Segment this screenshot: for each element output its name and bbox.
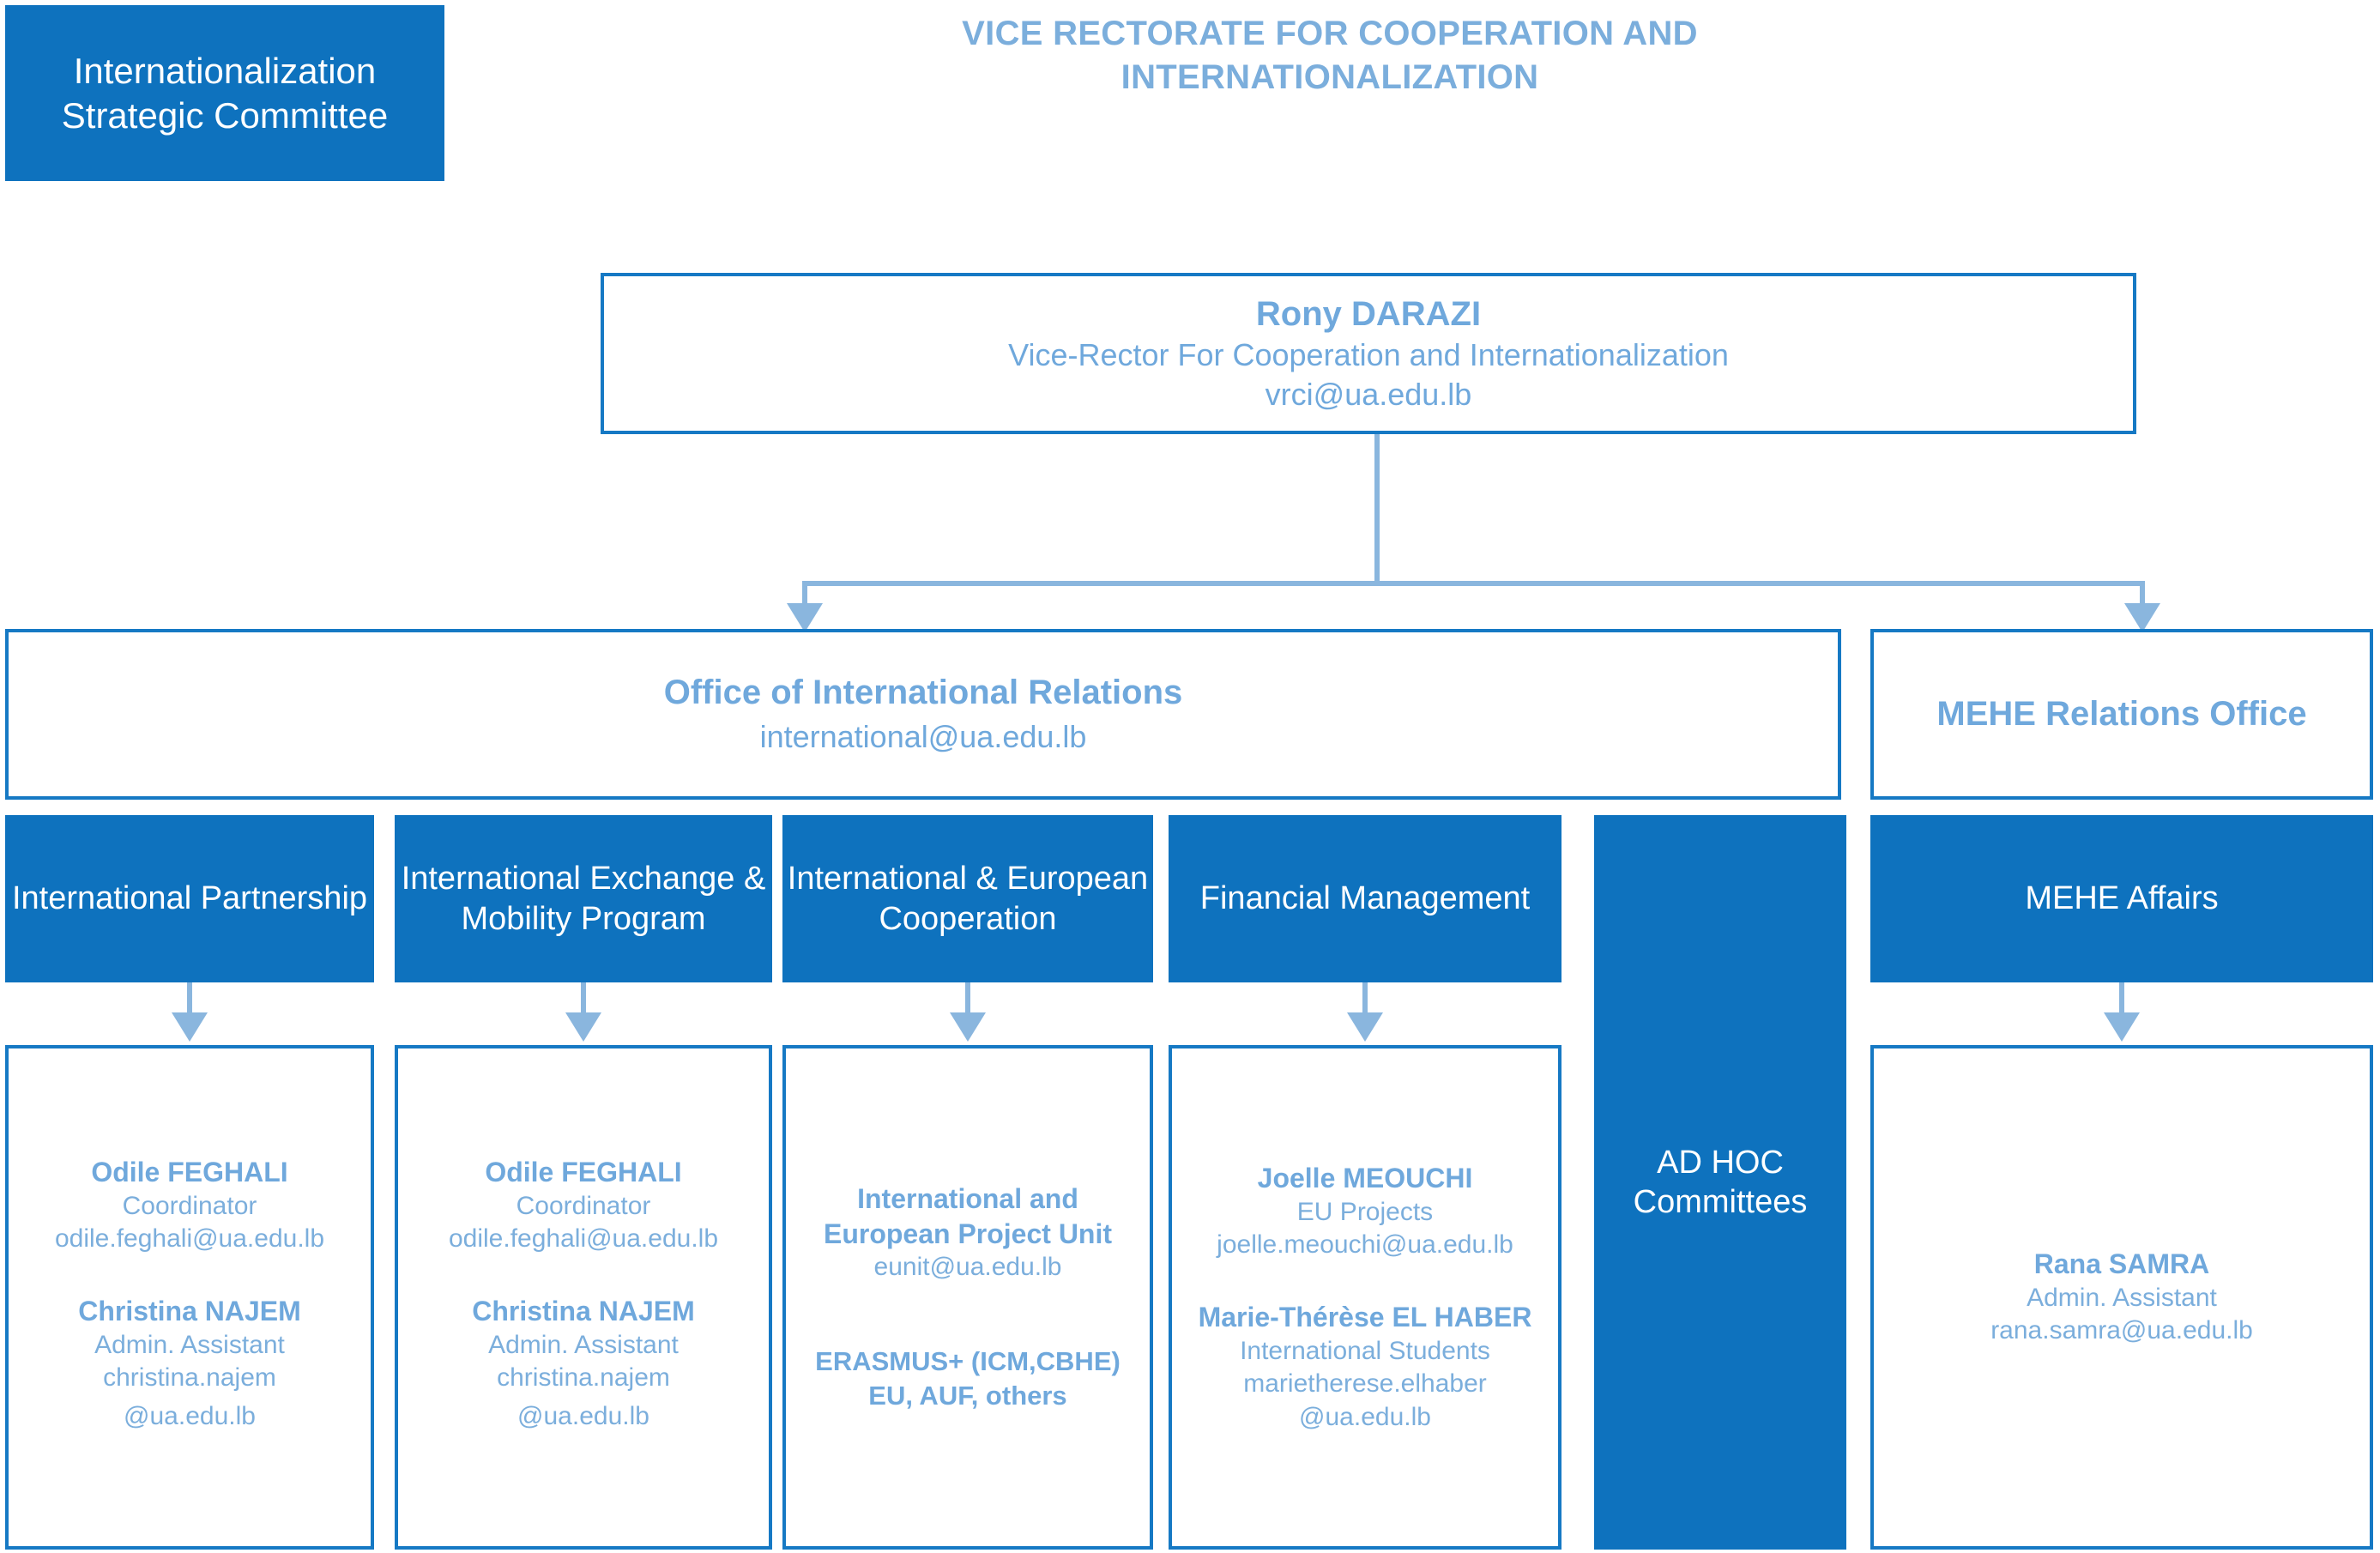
connector-dept-4-drop [2119, 982, 2124, 1015]
person-role: Admin. Assistant [405, 1329, 762, 1362]
org-chart-canvas: Internationalization Strategic Committee… [0, 0, 2380, 1553]
person-role: International Students [1179, 1335, 1551, 1368]
arrow-dept-0-to-detail [172, 1012, 208, 1042]
vice-rector-box: Rony DARAZI Vice-Rector For Cooperation … [601, 273, 2136, 434]
internationalization-strategic-committee-box: Internationalization Strategic Committee [5, 5, 444, 181]
department-label: International Exchange & Mobility Progra… [395, 859, 772, 939]
connector-rector-vertical [1374, 434, 1380, 586]
arrow-dept-1-to-detail [565, 1012, 601, 1042]
unit-name-line-1: International and [793, 1181, 1143, 1217]
ad-hoc-committees-box: AD HOC Committees [1594, 815, 1846, 1550]
department-mehe-affairs: MEHE Affairs [1870, 815, 2373, 982]
person-role: Admin. Assistant [1881, 1282, 2363, 1314]
office-of-international-relations-box: Office of International Relations intern… [5, 629, 1841, 800]
mehe-relations-office-box: MEHE Relations Office [1870, 629, 2373, 800]
person-email: odile.feghali@ua.edu.lb [405, 1223, 762, 1255]
unit-name-line-2: European Project Unit [793, 1217, 1143, 1252]
person-email-continued: @ua.edu.lb [1179, 1401, 1551, 1434]
person-entry: Rana SAMRA Admin. Assistant rana.samra@u… [1881, 1247, 2363, 1348]
detail-international-exchange-mobility-program: Odile FEGHALI Coordinator odile.feghali@… [395, 1045, 772, 1550]
programs-line-2: EU, AUF, others [793, 1379, 1143, 1413]
detail-mehe-affairs: Rana SAMRA Admin. Assistant rana.samra@u… [1870, 1045, 2373, 1550]
ad-hoc-committees-label: AD HOC Committees [1594, 1143, 1846, 1223]
person-email: christina.najem [405, 1362, 762, 1394]
arrow-to-mehe-relations-office [2124, 603, 2160, 632]
department-international-partnership: International Partnership [5, 815, 374, 982]
arrow-to-office-of-international-relations [787, 603, 823, 632]
person-entry: Christina NAJEM Admin. Assistant christi… [15, 1294, 364, 1440]
department-international-european-cooperation: International & European Cooperation [782, 815, 1153, 982]
internationalization-strategic-committee-label: Internationalization Strategic Committee [5, 49, 444, 136]
department-label: International & European Cooperation [782, 859, 1153, 939]
connector-dept-1-drop [581, 982, 586, 1015]
person-email: christina.najem [15, 1362, 364, 1394]
detail-financial-management: Joelle MEOUCHI EU Projects joelle.meouch… [1169, 1045, 1561, 1550]
person-email: joelle.meouchi@ua.edu.lb [1179, 1229, 1551, 1261]
detail-international-partnership: Odile FEGHALI Coordinator odile.feghali@… [5, 1045, 374, 1550]
unit-email: eunit@ua.edu.lb [793, 1251, 1143, 1284]
person-name: Marie-Thérèse EL HABER [1179, 1300, 1551, 1335]
person-email: marietherese.elhaber [1179, 1368, 1551, 1400]
person-entry: Marie-Thérèse EL HABER International Stu… [1179, 1300, 1551, 1434]
office-of-international-relations-name: Office of International Relations [664, 674, 1183, 712]
person-entry: Joelle MEOUCHI EU Projects joelle.meouch… [1179, 1161, 1551, 1262]
person-entry: Odile FEGHALI Coordinator odile.feghali@… [405, 1155, 762, 1256]
person-entry: Christina NAJEM Admin. Assistant christi… [405, 1294, 762, 1440]
person-name: Joelle MEOUCHI [1179, 1161, 1551, 1196]
department-label: MEHE Affairs [2025, 879, 2218, 918]
connector-dept-2-drop [965, 982, 970, 1015]
person-name: Rana SAMRA [1881, 1247, 2363, 1282]
person-role: Admin. Assistant [15, 1329, 364, 1362]
page-title: VICE RECTORATE FOR COOPERATION AND INTER… [927, 12, 1733, 100]
person-name: Christina NAJEM [405, 1294, 762, 1329]
arrow-dept-4-to-detail [2104, 1012, 2140, 1042]
department-label: International Partnership [12, 879, 367, 918]
person-name: Odile FEGHALI [405, 1155, 762, 1190]
person-email: odile.feghali@ua.edu.lb [15, 1223, 364, 1255]
programs-line-1: ERASMUS+ (ICM,CBHE) [793, 1345, 1143, 1379]
person-role: Coordinator [15, 1190, 364, 1223]
department-label: Financial Management [1200, 879, 1530, 918]
person-role: Coordinator [405, 1190, 762, 1223]
person-email: rana.samra@ua.edu.lb [1881, 1314, 2363, 1347]
person-email-continued: @ua.edu.lb [405, 1394, 762, 1440]
connector-dept-3-drop [1362, 982, 1368, 1015]
person-name: Christina NAJEM [15, 1294, 364, 1329]
department-financial-management: Financial Management [1169, 815, 1561, 982]
vice-rector-name: Rony DARAZI [1256, 295, 1481, 334]
programs-entry: ERASMUS+ (ICM,CBHE) EU, AUF, others [793, 1345, 1143, 1414]
department-international-exchange-mobility-program: International Exchange & Mobility Progra… [395, 815, 772, 982]
vice-rector-email: vrci@ua.edu.lb [1266, 377, 1472, 413]
office-of-international-relations-email: international@ua.edu.lb [760, 719, 1087, 755]
person-role: EU Projects [1179, 1196, 1551, 1229]
arrow-dept-3-to-detail [1347, 1012, 1383, 1042]
connector-horizontal-bus [802, 581, 2145, 586]
person-email-continued: @ua.edu.lb [15, 1394, 364, 1440]
person-entry: Odile FEGHALI Coordinator odile.feghali@… [15, 1155, 364, 1256]
person-name: Odile FEGHALI [15, 1155, 364, 1190]
detail-international-european-cooperation: International and European Project Unit … [782, 1045, 1153, 1550]
mehe-relations-office-name: MEHE Relations Office [1936, 695, 2306, 734]
unit-entry: International and European Project Unit … [793, 1181, 1143, 1284]
arrow-dept-2-to-detail [950, 1012, 986, 1042]
vice-rector-role: Vice-Rector For Cooperation and Internat… [1008, 337, 1729, 373]
connector-dept-0-drop [187, 982, 192, 1015]
